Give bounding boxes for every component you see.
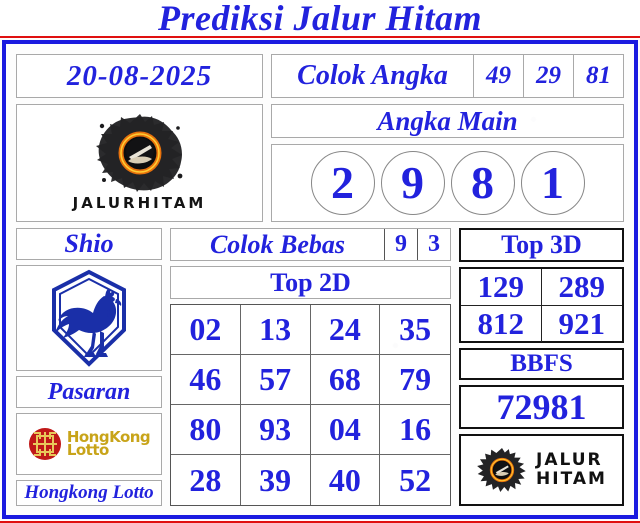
top2d-cell: 52 xyxy=(380,455,450,505)
pasaran-logo-box: HongKong Lotto xyxy=(16,413,162,475)
brand-logo-box: JALURHITAM xyxy=(16,104,263,222)
angka-main-values: 2 9 8 1 xyxy=(271,144,624,222)
hongkong-lotto-wordmark: HongKong Lotto xyxy=(67,431,150,457)
page-title-bar: Prediksi Jalur Hitam xyxy=(0,0,640,36)
top2d-cell: 93 xyxy=(241,405,311,455)
angka-main-digit-4: 1 xyxy=(521,151,585,215)
black-hole-splatter-icon xyxy=(476,446,528,494)
top2d-cell: 79 xyxy=(380,355,450,405)
bbfs-value: 72981 xyxy=(459,385,624,429)
top2d-cell: 80 xyxy=(171,405,241,455)
hk-logo-line-2: Lotto xyxy=(67,444,150,457)
jalurhitam-horizontal-logo: JALUR HITAM xyxy=(461,436,622,504)
black-hole-splatter-icon xyxy=(94,114,186,192)
bbfs-label: BBFS xyxy=(459,348,624,380)
jalurhitam-logo: JALURHITAM xyxy=(17,105,262,221)
angka-main-digit-2: 9 xyxy=(381,151,445,215)
rooster-icon xyxy=(36,268,142,368)
angka-main-digit-3: 8 xyxy=(451,151,515,215)
top2d-cell: 40 xyxy=(311,455,381,505)
top3d-cell: 129 xyxy=(461,269,542,306)
pasaran-label: Pasaran xyxy=(16,376,162,408)
top2d-cell: 02 xyxy=(171,305,241,355)
colok-bebas-label: Colok Bebas xyxy=(171,229,384,260)
colok-bebas-value-1: 9 xyxy=(384,229,417,260)
top2d-cell: 04 xyxy=(311,405,381,455)
brand-wordmark: JALUR HITAM xyxy=(536,451,607,489)
colok-bebas-value-2: 3 xyxy=(417,229,450,260)
poster-frame-blue: 20-08-2025 Colok Angka 49 29 81 xyxy=(2,40,638,519)
top2d-cell: 24 xyxy=(311,305,381,355)
angka-main-section: Angka Main 2 9 8 1 xyxy=(271,104,624,222)
top2d-cell: 28 xyxy=(171,455,241,505)
colok-angka-value-3: 81 xyxy=(573,55,623,97)
row-date-colok-angka: 20-08-2025 Colok Angka 49 29 81 xyxy=(16,54,624,98)
hongkong-lotto-logo: HongKong Lotto xyxy=(17,414,161,474)
brand-line-1: JALUR xyxy=(536,451,607,470)
top3d-cell: 812 xyxy=(461,306,542,342)
top3d-cell: 289 xyxy=(542,269,623,306)
colok-bebas-section: Colok Bebas 9 3 xyxy=(170,228,451,261)
right-column: Top 3D 129 289 812 921 BBFS 72981 xyxy=(459,228,624,506)
poster-content: 20-08-2025 Colok Angka 49 29 81 xyxy=(10,48,630,511)
date-box: 20-08-2025 xyxy=(16,54,263,98)
row-main-content: Shio xyxy=(16,228,624,506)
colok-angka-value-1: 49 xyxy=(473,55,523,97)
top2d-cell: 39 xyxy=(241,455,311,505)
hongkong-lotto-emblem-icon xyxy=(28,427,62,461)
pasaran-market-name: Hongkong Lotto xyxy=(16,480,162,506)
top3d-label: Top 3D xyxy=(459,228,624,262)
top2d-cell: 16 xyxy=(380,405,450,455)
poster-frame-outer: 20-08-2025 Colok Angka 49 29 81 xyxy=(0,36,640,523)
colok-angka-label: Colok Angka xyxy=(272,55,473,97)
top3d-grid: 129 289 812 921 xyxy=(459,267,624,343)
row-logo-angka-main: JALURHITAM Angka Main 2 9 8 1 xyxy=(16,104,624,222)
angka-main-digit-1: 2 xyxy=(311,151,375,215)
middle-column: Colok Bebas 9 3 Top 2D 02 13 24 35 46 57… xyxy=(170,228,451,506)
top2d-label: Top 2D xyxy=(170,266,451,299)
top2d-cell: 46 xyxy=(171,355,241,405)
top2d-cell: 57 xyxy=(241,355,311,405)
top3d-cell: 921 xyxy=(542,306,623,342)
top2d-grid: 02 13 24 35 46 57 68 79 80 93 04 16 28 3… xyxy=(170,304,451,506)
brand-logo-horizontal-box: JALUR HITAM xyxy=(459,434,624,506)
top2d-cell: 35 xyxy=(380,305,450,355)
shio-image-box xyxy=(16,265,162,371)
page-title: Prediksi Jalur Hitam xyxy=(158,0,482,36)
shio-label: Shio xyxy=(16,228,162,260)
brand-name: JALURHITAM xyxy=(73,194,207,212)
angka-main-label: Angka Main xyxy=(271,104,624,138)
colok-angka-value-2: 29 xyxy=(523,55,573,97)
prediction-poster: Prediksi Jalur Hitam 20-08-2025 Colok An… xyxy=(0,0,640,523)
colok-angka-section: Colok Angka 49 29 81 xyxy=(271,54,624,98)
brand-line-2: HITAM xyxy=(536,470,607,489)
left-column: Shio xyxy=(16,228,162,506)
top2d-cell: 13 xyxy=(241,305,311,355)
top2d-cell: 68 xyxy=(311,355,381,405)
